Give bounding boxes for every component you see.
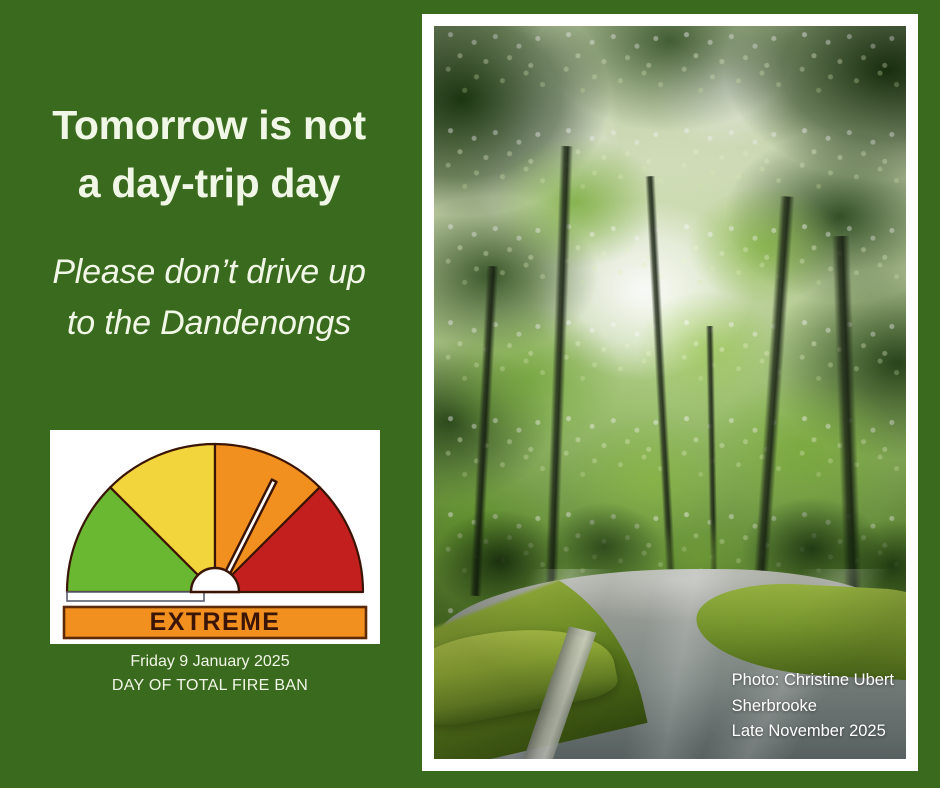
photo-credit: Photo: Christine Ubert Sherbrooke Late N…: [732, 668, 894, 745]
rating-banner-label: EXTREME: [150, 608, 281, 636]
photo-credit-photographer: Photo: Christine Ubert: [732, 668, 894, 694]
headline-line-2: a day-trip day: [0, 154, 418, 212]
page-title: Tomorrow is not a day-trip day: [0, 96, 418, 212]
photo-credit-location: Sherbrooke: [732, 694, 894, 720]
left-text-column: Tomorrow is not a day-trip day Please do…: [0, 0, 418, 788]
gauge-caption-ban-notice: DAY OF TOTAL FIRE BAN: [20, 674, 400, 698]
fire-danger-poster: Tomorrow is not a day-trip day Please do…: [0, 0, 940, 788]
fire-danger-gauge: EXTREME: [50, 430, 380, 644]
fire-danger-rating-card: EXTREME: [50, 430, 380, 644]
gauge-caption-date: Friday 9 January 2025: [20, 650, 400, 674]
photo-frame: Photo: Christine Ubert Sherbrooke Late N…: [422, 14, 918, 771]
gauge-graphic: EXTREME: [50, 430, 380, 644]
gauge-caption: Friday 9 January 2025 DAY OF TOTAL FIRE …: [20, 650, 400, 697]
subtitle-line-2: to the Dandenongs: [0, 298, 418, 349]
headline-line-1: Tomorrow is not: [0, 96, 418, 154]
photo-vignette: [434, 26, 906, 759]
subtitle-line-1: Please don’t drive up: [0, 247, 418, 298]
subtitle: Please don’t drive up to the Dandenongs: [0, 247, 418, 349]
gauge-base-bar: [67, 592, 204, 601]
forest-road-photo: Photo: Christine Ubert Sherbrooke Late N…: [434, 26, 906, 759]
photo-credit-date: Late November 2025: [732, 719, 894, 745]
